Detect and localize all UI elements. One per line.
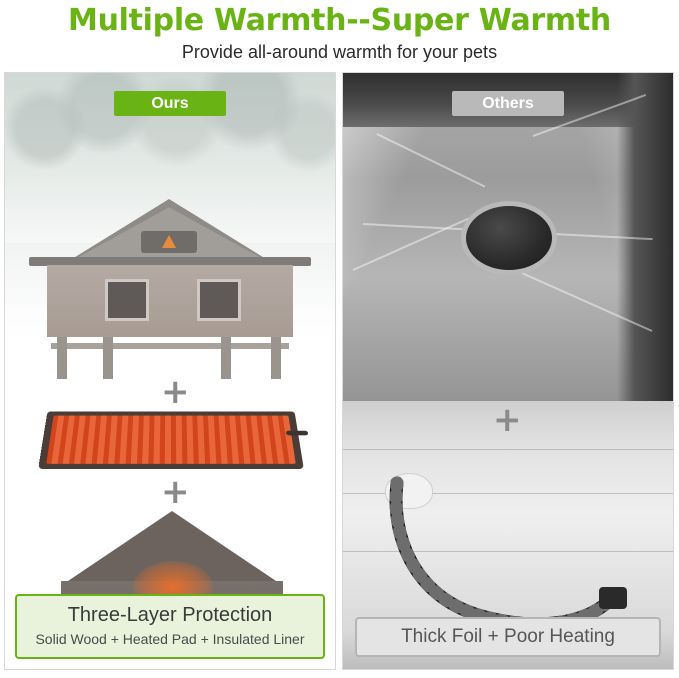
house-sign bbox=[141, 231, 197, 253]
bedding-fold bbox=[343, 449, 674, 450]
house-leg bbox=[221, 337, 231, 379]
others-caption: Thick Foil + Poor Heating bbox=[355, 617, 661, 657]
heated-pad-coils bbox=[46, 416, 296, 464]
foil-side-shadow bbox=[617, 73, 674, 425]
heated-pad-illustration bbox=[38, 411, 304, 469]
others-badge: Others bbox=[452, 91, 564, 116]
ours-caption-title: Three-Layer Protection bbox=[21, 602, 319, 628]
ours-panel: + + Ours Three-Layer Protection Solid Wo… bbox=[4, 72, 336, 670]
product-comparison-image: Multiple Warmth--Super Warmth Provide al… bbox=[0, 0, 679, 678]
house-window-right bbox=[197, 279, 241, 321]
plus-icon: + bbox=[161, 475, 190, 509]
foil-seam bbox=[377, 133, 486, 187]
page-title: Multiple Warmth--Super Warmth bbox=[0, 4, 679, 38]
house-leg bbox=[57, 337, 67, 379]
page-subtitle: Provide all-around warmth for your pets bbox=[0, 40, 679, 64]
comparison-panels: + + Ours Three-Layer Protection Solid Wo… bbox=[4, 72, 675, 672]
house-body bbox=[47, 265, 293, 337]
dog-house-illustration bbox=[21, 191, 321, 381]
ours-badge: Ours bbox=[114, 91, 226, 116]
foil-entry-hole bbox=[461, 201, 557, 275]
house-leg bbox=[103, 337, 113, 379]
ours-caption: Three-Layer Protection Solid Wood + Heat… bbox=[15, 594, 325, 659]
others-panel: + Others Thick Foil + Poor Heating bbox=[342, 72, 674, 670]
house-rail bbox=[51, 343, 289, 349]
house-leg bbox=[271, 337, 281, 379]
heated-pad-cord bbox=[286, 431, 309, 436]
plus-icon: + bbox=[161, 375, 190, 409]
header: Multiple Warmth--Super Warmth Provide al… bbox=[0, 0, 679, 64]
foil-tent-illustration bbox=[343, 73, 674, 425]
house-window-left bbox=[105, 279, 149, 321]
plus-icon: + bbox=[493, 403, 522, 437]
ours-caption-subtitle: Solid Wood + Heated Pad + Insulated Line… bbox=[21, 629, 319, 649]
